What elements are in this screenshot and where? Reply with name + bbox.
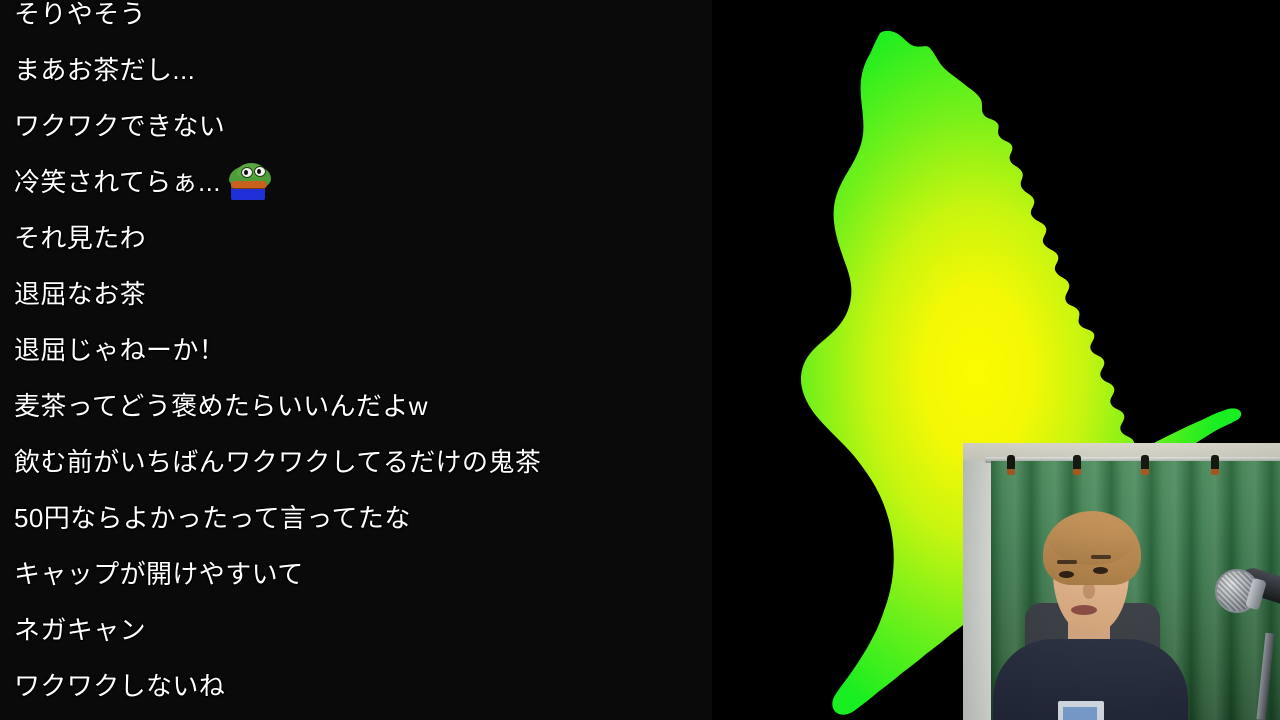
chat-message-text: 麦茶ってどう褒めたらいいんだよw (14, 378, 428, 434)
chat-message: それ見たわ (0, 210, 712, 266)
chat-message-text: ワクワクできない (14, 98, 225, 154)
curtain-hook-icon (1141, 455, 1149, 473)
stream-stage: そりやそう まあお茶だし... ワクワクできない 冷笑されてらぁ... (0, 0, 1280, 720)
chat-message: ワクワクしないね (0, 658, 712, 714)
chat-message: 麦茶ってどう褒めたらいいんだよw (0, 378, 712, 434)
curtain-hook-icon (1007, 455, 1015, 473)
person-eye-right (1093, 567, 1108, 574)
chat-message: 冷笑されてらぁ... (0, 154, 712, 210)
pepe-frog-emote (227, 162, 275, 202)
chat-message-text: 飲む前がいちばんワクワクしてるだけの鬼茶 (14, 434, 541, 490)
chat-message-text: 冷笑されてらぁ... (14, 154, 221, 210)
person-eye-left (1059, 571, 1074, 578)
wall-left (963, 443, 993, 720)
person-eyebrow-right (1091, 555, 1111, 559)
curtain-hook-icon (1211, 455, 1219, 473)
chat-message-text: 退屈じゃねーか！ (14, 322, 225, 378)
live-chat-panel[interactable]: そりやそう まあお茶だし... ワクワクできない 冷笑されてらぁ... (0, 0, 712, 720)
chat-message-text: ワクワクしないね (14, 658, 225, 714)
chat-message-list[interactable]: そりやそう まあお茶だし... ワクワクできない 冷笑されてらぁ... (0, 0, 712, 714)
chat-message-text: そりやそう (14, 0, 146, 42)
chat-message: ネガキャン (0, 602, 712, 658)
streamer-webcam-overlay[interactable] (963, 443, 1280, 720)
chat-message: 退屈じゃねーか！ (0, 322, 712, 378)
chat-message: 退屈なお茶 (0, 266, 712, 322)
curtain-hook-icon (1073, 455, 1081, 473)
chat-message-text: 50円ならよかったって言ってたな (14, 490, 411, 546)
chat-message: キャップが開けやすいて (0, 546, 712, 602)
person-nose (1083, 583, 1095, 599)
chat-message: ワクワクできない (0, 98, 712, 154)
chat-message-text: 退屈なお茶 (14, 266, 146, 322)
shirt-graphic-2 (1063, 707, 1097, 720)
chat-message-text: それ見たわ (14, 210, 146, 266)
person-mouth (1071, 605, 1097, 615)
chat-message-text: ネガキャン (14, 602, 146, 658)
chat-message: そりやそう (0, 0, 712, 42)
person-eyebrow-left (1057, 560, 1077, 564)
chat-message-text: まあお茶だし... (14, 42, 195, 98)
chat-message: まあお茶だし... (0, 42, 712, 98)
chat-message: 飲む前がいちばんワクワクしてるだけの鬼茶 (0, 434, 712, 490)
chat-message: 50円ならよかったって言ってたな (0, 490, 712, 546)
chat-message-text: キャップが開けやすいて (14, 546, 304, 602)
